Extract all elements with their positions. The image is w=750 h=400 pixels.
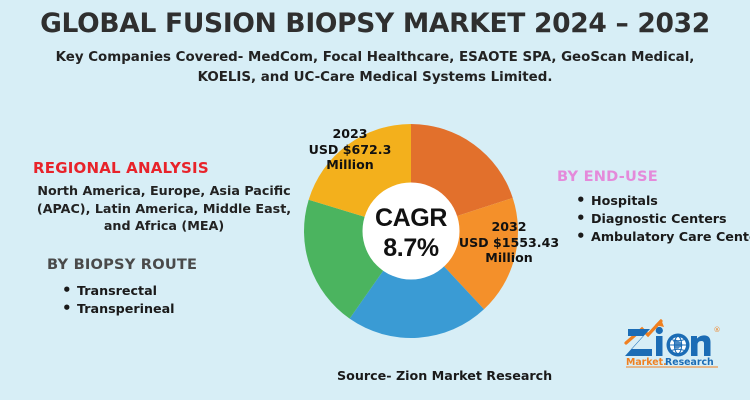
- regional-analysis-heading: REGIONAL ANALYSIS: [33, 159, 209, 177]
- zion-market-research-logo: ® Market. Research: [620, 316, 724, 368]
- infographic-canvas: GLOBAL FUSION BIOPSY MARKET 2024 – 2032 …: [0, 0, 750, 400]
- callout-2023: 2023 USD $672.3 Million: [287, 126, 413, 173]
- callout-2032-year: 2032: [441, 219, 577, 235]
- callout-2023-year: 2023: [287, 126, 413, 142]
- regional-analysis-body: North America, Europe, Asia Pacific (APA…: [31, 182, 297, 235]
- source-attribution: Source- Zion Market Research: [337, 368, 552, 383]
- biopsy-route-list: TransrectalTransperineal: [62, 282, 175, 318]
- callout-2032-value: USD $1553.43: [441, 235, 577, 251]
- logo-letter-i-dot: [656, 327, 663, 334]
- logo-letter-i: [656, 336, 663, 356]
- biopsy-route-heading: BY BIOPSY ROUTE: [47, 256, 197, 273]
- list-item: Transrectal: [62, 282, 175, 300]
- callout-2023-units: Million: [287, 157, 413, 173]
- logo-tagline-market: Market.: [626, 357, 667, 368]
- callout-2032: 2032 USD $1553.43 Million: [441, 219, 577, 266]
- registered-trademark-icon: ®: [714, 326, 721, 334]
- list-item: Ambulatory Care Centers: [576, 228, 698, 246]
- callout-2032-units: Million: [441, 250, 577, 266]
- end-use-heading: BY END-USE: [557, 168, 658, 185]
- logo-tagline-research: Research: [665, 357, 714, 368]
- list-item: Transperineal: [62, 300, 175, 318]
- end-use-list: HospitalsDiagnostic CentersAmbulatory Ca…: [576, 192, 698, 246]
- key-companies-subtitle: Key Companies Covered- MedCom, Focal Hea…: [36, 48, 714, 88]
- list-item: Hospitals: [576, 192, 698, 210]
- page-title: GLOBAL FUSION BIOPSY MARKET 2024 – 2032: [0, 8, 750, 39]
- callout-2023-value: USD $672.3: [287, 142, 413, 158]
- logo-letter-n: [691, 335, 711, 356]
- globe-icon: [667, 334, 690, 357]
- list-item: Diagnostic Centers: [576, 210, 698, 228]
